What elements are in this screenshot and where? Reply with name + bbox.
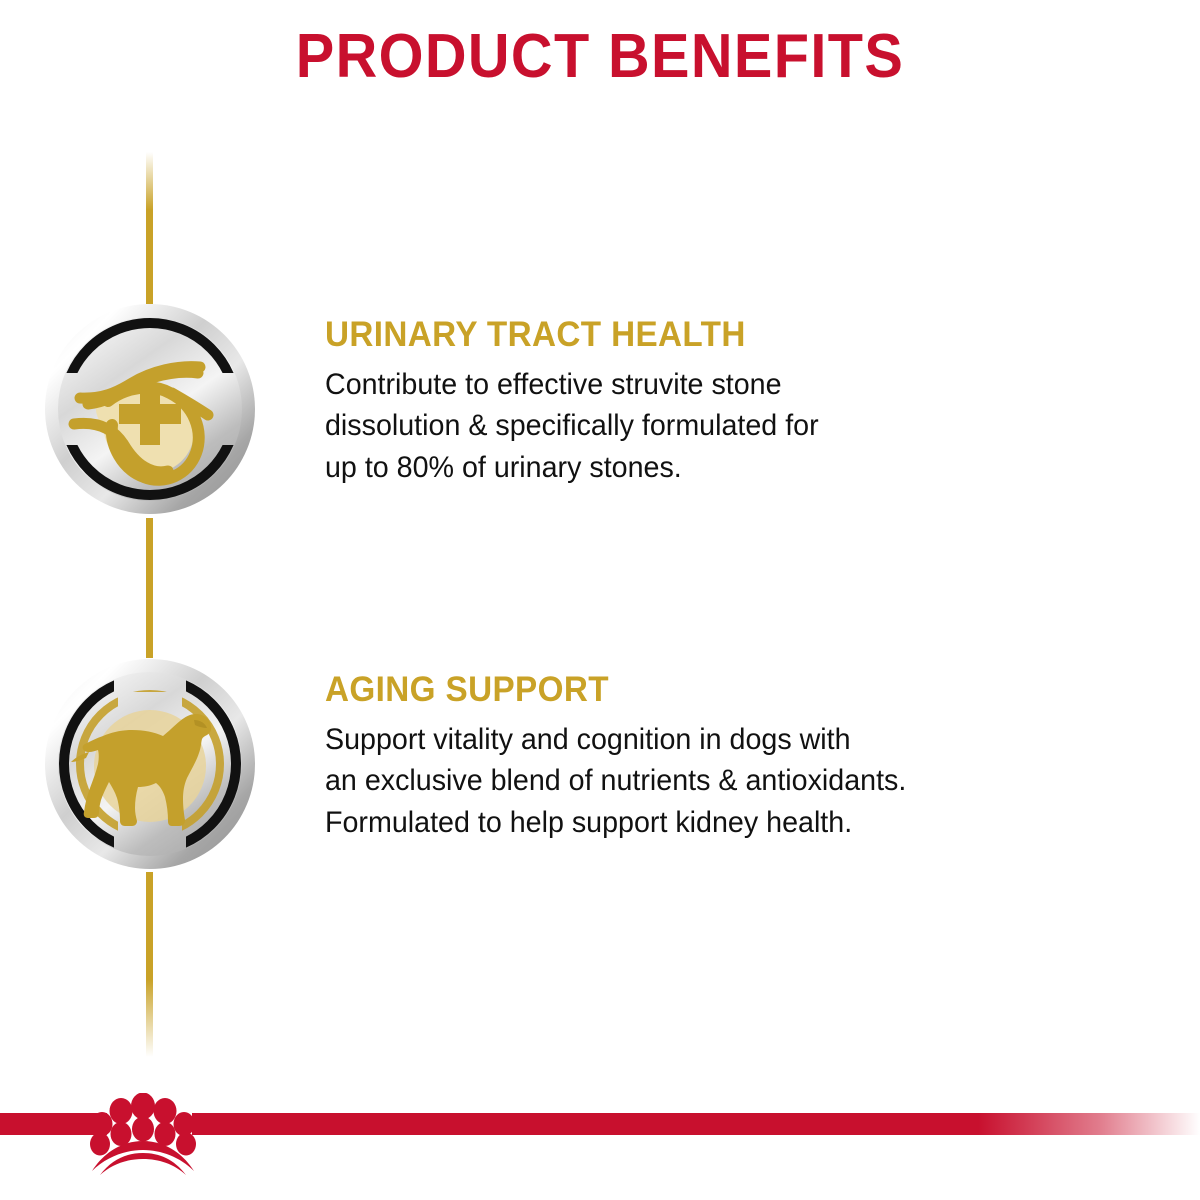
timeline-segment-top bbox=[146, 152, 153, 304]
benefit-item-urinary-tract-health: URINARY TRACT HEALTH Contribute to effec… bbox=[0, 295, 1200, 525]
benefit-heading: URINARY TRACT HEALTH bbox=[325, 317, 1085, 354]
royal-canin-crown-logo bbox=[88, 1093, 198, 1175]
urinary-tract-icon bbox=[44, 303, 256, 515]
benefit-text-block: URINARY TRACT HEALTH Contribute to effec… bbox=[325, 317, 1125, 488]
footer-bar-right bbox=[192, 1113, 1200, 1135]
timeline-segment-bottom bbox=[146, 872, 153, 1057]
timeline-segment-middle bbox=[146, 518, 153, 658]
benefit-description: Support vitality and cognition in dogs w… bbox=[325, 719, 1089, 843]
benefit-item-aging-support: AGING SUPPORT Support vitality and cogni… bbox=[0, 650, 1200, 880]
aging-support-dog-icon bbox=[44, 658, 256, 870]
benefit-heading: AGING SUPPORT bbox=[325, 672, 1085, 709]
benefit-text-block: AGING SUPPORT Support vitality and cogni… bbox=[325, 672, 1125, 843]
page-title: PRODUCT BENEFITS bbox=[42, 26, 1158, 88]
benefit-description: Contribute to effective struvite stone d… bbox=[325, 364, 1089, 488]
